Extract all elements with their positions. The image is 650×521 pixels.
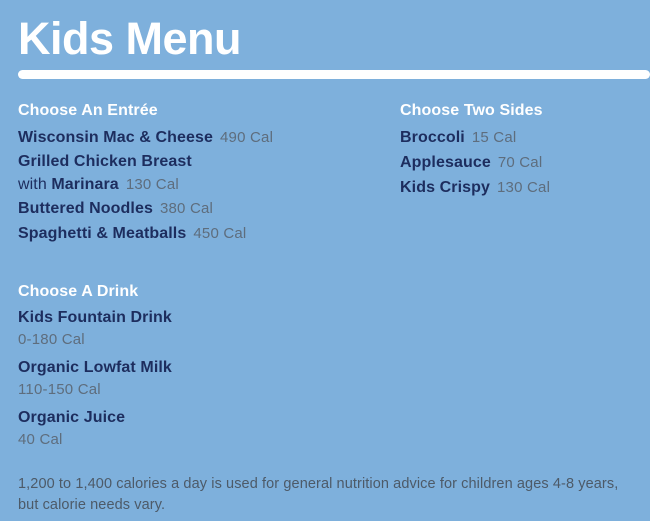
item-calories: 0-180 Cal bbox=[18, 329, 393, 351]
menu-item: Spaghetti & Meatballs450 Cal bbox=[18, 221, 393, 246]
menu-item: Buttered Noodles380 Cal bbox=[18, 196, 393, 221]
title-block: Kids Menu bbox=[0, 0, 650, 68]
item-name-line1: Grilled Chicken Breast bbox=[18, 153, 192, 170]
item-name-prefix: with bbox=[18, 176, 47, 193]
page-title: Kids Menu bbox=[18, 10, 650, 68]
nutrition-disclaimer: 1,200 to 1,400 calories a day is used fo… bbox=[18, 474, 630, 516]
item-name: Broccoli bbox=[400, 129, 465, 146]
item-calories: 110-150 Cal bbox=[18, 379, 393, 401]
menu-item: Wisconsin Mac & Cheese490 Cal bbox=[18, 125, 393, 150]
item-name: Kids Crispy bbox=[400, 179, 490, 196]
item-calories: 130 Cal bbox=[126, 176, 179, 193]
kids-menu-board: Kids Menu Choose An Entrée Wisconsin Mac… bbox=[0, 0, 650, 521]
item-calories: 130 Cal bbox=[497, 179, 550, 196]
item-calories: 70 Cal bbox=[498, 154, 543, 171]
menu-item: Organic Juice 40 Cal bbox=[18, 406, 393, 451]
menu-item: Applesauce70 Cal bbox=[400, 150, 645, 175]
item-name: Buttered Noodles bbox=[18, 200, 153, 217]
item-calories: 40 Cal bbox=[18, 429, 393, 451]
entree-section: Choose An Entrée Wisconsin Mac & Cheese4… bbox=[18, 100, 393, 246]
sides-heading: Choose Two Sides bbox=[400, 100, 645, 122]
drinks-section: Choose A Drink Kids Fountain Drink 0-180… bbox=[18, 281, 393, 456]
title-divider bbox=[18, 70, 650, 79]
menu-item: Kids Crispy130 Cal bbox=[400, 175, 645, 200]
menu-item: Grilled Chicken Breast bbox=[18, 150, 393, 173]
drinks-heading: Choose A Drink bbox=[18, 281, 393, 303]
item-calories: 15 Cal bbox=[472, 129, 517, 146]
menu-item: Organic Lowfat Milk 110-150 Cal bbox=[18, 356, 393, 401]
item-name: Applesauce bbox=[400, 154, 491, 171]
item-name-line2: Marinara bbox=[51, 176, 119, 193]
menu-item-continued: with Marinara130 Cal bbox=[18, 173, 393, 196]
item-name: Organic Juice bbox=[18, 406, 393, 429]
entree-heading: Choose An Entrée bbox=[18, 100, 393, 122]
item-name: Spaghetti & Meatballs bbox=[18, 225, 186, 242]
sides-section: Choose Two Sides Broccoli15 Cal Applesau… bbox=[400, 100, 645, 200]
item-calories: 490 Cal bbox=[220, 129, 273, 146]
menu-item: Broccoli15 Cal bbox=[400, 125, 645, 150]
item-name: Wisconsin Mac & Cheese bbox=[18, 129, 213, 146]
menu-item: Kids Fountain Drink 0-180 Cal bbox=[18, 306, 393, 351]
item-calories: 380 Cal bbox=[160, 200, 213, 217]
item-calories: 450 Cal bbox=[193, 225, 246, 242]
item-name: Kids Fountain Drink bbox=[18, 306, 393, 329]
item-name: Organic Lowfat Milk bbox=[18, 356, 393, 379]
